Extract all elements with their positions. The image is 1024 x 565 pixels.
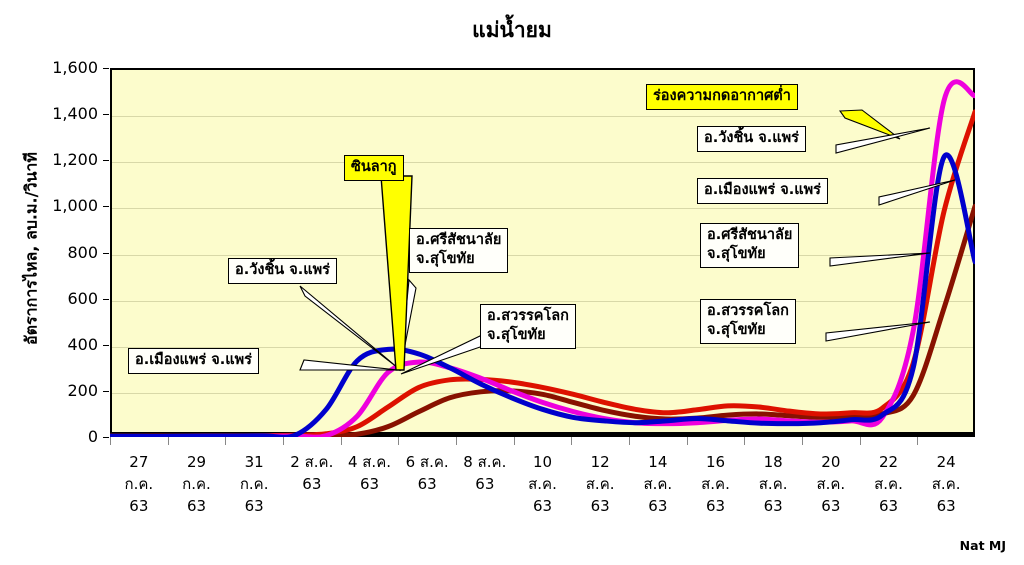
callout-low-pressure-trough-label: ร่องความกดอากาศต่ำ [653, 87, 791, 106]
callout-line: อ.ศรีสัชนาลัย [707, 226, 792, 245]
x-axis-tick-mark [744, 437, 745, 445]
x-axis-tick-line: ส.ค. [911, 474, 981, 496]
x-axis-tick-mark [917, 437, 918, 445]
x-axis-tick-label: 24ส.ค.63 [911, 452, 981, 517]
y-axis-tick-label: 400 [0, 335, 98, 354]
x-axis-tick-mark [571, 437, 572, 445]
callout-muangphrae-left[interactable]: อ.เมืองแพร่ จ.แพร่ [128, 348, 259, 374]
y-axis-tick-label: 1,000 [0, 196, 98, 215]
x-axis-tick-mark [687, 437, 688, 445]
y-axis-tick-label: 1,600 [0, 58, 98, 77]
y-axis-tick-mark [103, 114, 109, 115]
callout-sisatchanalai-left[interactable]: อ.ศรีสัชนาลัย จ.สุโขทัย [409, 228, 508, 273]
x-axis-tick-line: 24 [911, 452, 981, 474]
x-axis-tick-line: 63 [219, 496, 289, 518]
callout-wangchin-left[interactable]: อ.วังชิ้น จ.แพร่ [228, 258, 337, 284]
callout-line: อ.เมืองแพร่ จ.แพร่ [704, 181, 821, 200]
y-axis-tick-label: 0 [0, 427, 98, 446]
x-axis-tick-mark [514, 437, 515, 445]
x-axis-tick-mark [860, 437, 861, 445]
callout-line: จ.สุโขทัย [707, 321, 789, 340]
y-axis-tick-label: 1,400 [0, 104, 98, 123]
x-axis-tick-mark [168, 437, 169, 445]
callout-line: อ.เมืองแพร่ จ.แพร่ [135, 351, 252, 370]
y-axis-tick-label: 1,200 [0, 150, 98, 169]
y-axis-tick-mark [103, 391, 109, 392]
x-axis-tick-mark [341, 437, 342, 445]
y-axis-tick-mark [103, 437, 109, 438]
callout-line: จ.สุโขทัย [487, 326, 569, 345]
x-axis-tick-mark [802, 437, 803, 445]
callout-line: อ.ศรีสัชนาลัย [416, 231, 501, 250]
x-axis-tick-mark [629, 437, 630, 445]
x-axis-tick-mark [283, 437, 284, 445]
callout-line: อ.วังชิ้น จ.แพร่ [235, 261, 330, 280]
x-axis-tick-mark [456, 437, 457, 445]
page-title: แม่น้ำยม [0, 14, 1024, 47]
callout-wangchin-right[interactable]: อ.วังชิ้น จ.แพร่ [697, 126, 806, 152]
y-axis-tick-mark [103, 299, 109, 300]
y-axis-tick-label: 800 [0, 243, 98, 262]
y-axis-tick-mark [103, 206, 109, 207]
callout-sisatchanalai-right[interactable]: อ.ศรีสัชนาลัย จ.สุโขทัย [700, 223, 799, 268]
callout-sawankhalok-left[interactable]: อ.สวรรคโลก จ.สุโขทัย [480, 304, 576, 349]
callout-typhoon-sinlaku-label: ซินลากู [351, 158, 397, 177]
x-axis-tick-mark [110, 437, 111, 445]
credit-text: Nat MJ [960, 538, 1006, 553]
chart-canvas: แม่น้ำยม อัตราการไหล, ลบ.ม./วินาที 1,600… [0, 0, 1024, 565]
callout-typhoon-sinlaku[interactable]: ซินลากู [344, 155, 404, 181]
y-axis-tick-mark [103, 160, 109, 161]
x-axis-tick-mark [225, 437, 226, 445]
callout-muangphrae-right[interactable]: อ.เมืองแพร่ จ.แพร่ [697, 178, 828, 204]
y-axis-tick-mark [103, 253, 109, 254]
callout-line: อ.วังชิ้น จ.แพร่ [704, 129, 799, 148]
x-axis-tick-line: 63 [911, 496, 981, 518]
y-axis-tick-label: 600 [0, 289, 98, 308]
y-axis-tick-label: 200 [0, 381, 98, 400]
callout-line: อ.สวรรคโลก [707, 302, 789, 321]
callout-line: จ.สุโขทัย [707, 245, 792, 264]
callout-low-pressure-trough[interactable]: ร่องความกดอากาศต่ำ [646, 84, 798, 110]
y-axis-tick-mark [103, 345, 109, 346]
callout-sawankhalok-right[interactable]: อ.สวรรคโลก จ.สุโขทัย [700, 299, 796, 344]
callout-line: อ.สวรรคโลก [487, 307, 569, 326]
callout-line: จ.สุโขทัย [416, 250, 501, 269]
series-lines [110, 68, 975, 437]
y-axis-tick-mark [103, 68, 109, 69]
x-axis-tick-mark [398, 437, 399, 445]
